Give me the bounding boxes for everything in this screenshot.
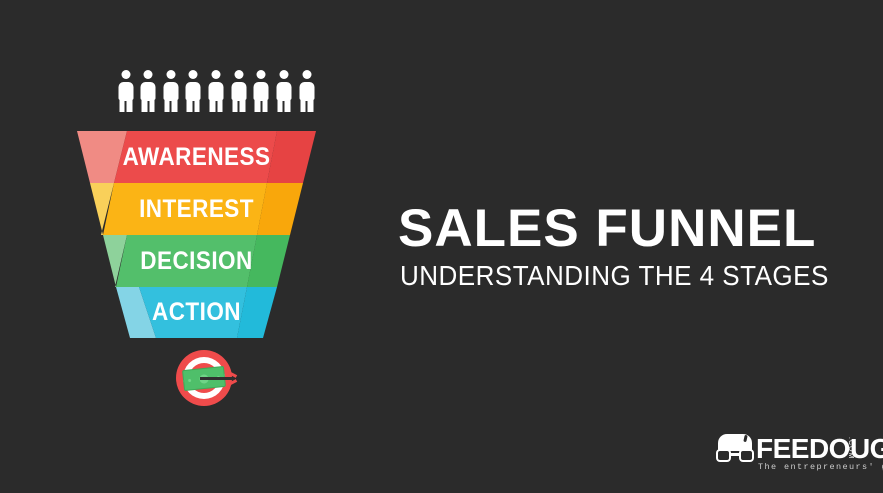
person-icon bbox=[299, 70, 314, 112]
funnel-stage-label: INTEREST bbox=[89, 183, 304, 236]
audience-people-row bbox=[118, 68, 314, 112]
arrow-icon bbox=[200, 377, 234, 380]
logo-domain: .COM bbox=[847, 437, 854, 459]
funnel-stage-decision[interactable]: DECISION bbox=[77, 235, 316, 287]
funnel-stage-label: ACTION bbox=[89, 287, 304, 339]
person-icon bbox=[163, 70, 178, 112]
feedough-logo[interactable]: FEEDOUGH .COM The entrepreneurs' guide bbox=[716, 432, 866, 476]
logo-wordmark: FEEDOUGH bbox=[756, 435, 883, 463]
funnel-stage-label: AWARENESS bbox=[89, 131, 304, 184]
person-icon bbox=[118, 70, 133, 112]
sales-funnel-graphic: AWARENESS INTEREST DECISION bbox=[77, 131, 316, 338]
page-subtitle: UNDERSTANDING THE 4 STAGES bbox=[400, 260, 798, 292]
person-icon bbox=[231, 70, 246, 112]
person-icon bbox=[209, 70, 224, 112]
funnel-stage-action[interactable]: ACTION bbox=[77, 287, 316, 338]
title-block: SALES FUNNEL UNDERSTANDING THE 4 STAGES bbox=[398, 202, 828, 292]
funnel-stage-label: DECISION bbox=[89, 235, 304, 288]
infographic-canvas: AWARENESS INTEREST DECISION bbox=[0, 0, 883, 493]
page-title: SALES FUNNEL bbox=[398, 202, 828, 256]
funnel-stage-awareness[interactable]: AWARENESS bbox=[77, 131, 316, 183]
person-icon bbox=[276, 70, 291, 112]
feedough-face-icon bbox=[716, 434, 754, 466]
person-icon bbox=[141, 70, 156, 112]
bullseye-target-icon bbox=[176, 350, 238, 406]
person-icon bbox=[254, 70, 269, 112]
person-icon bbox=[186, 70, 201, 112]
logo-tagline: The entrepreneurs' guide bbox=[758, 462, 883, 472]
funnel-stage-interest[interactable]: INTEREST bbox=[77, 183, 316, 235]
